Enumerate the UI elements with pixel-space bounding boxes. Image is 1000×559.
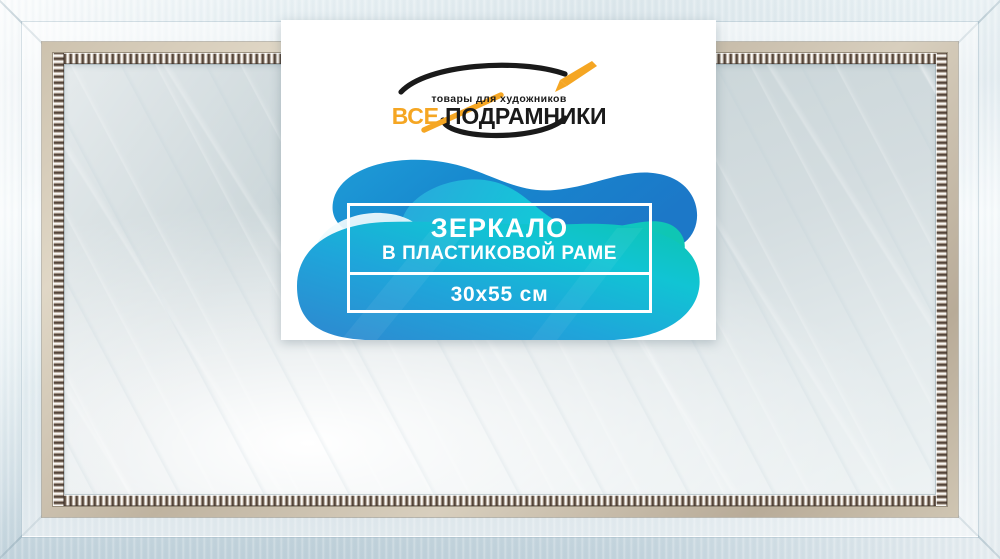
- label-text-box-lower: 30x55 см: [350, 275, 649, 313]
- bead-row-left: [53, 53, 64, 506]
- label-title: ЗЕРКАЛО: [431, 215, 569, 242]
- label-text-box-upper: ЗЕРКАЛО В ПЛАСТИКОВОЙ РАМЕ: [350, 206, 649, 275]
- logo-word-podramniki: ПОДРАМНИКИ: [444, 103, 605, 129]
- paintbrush-icon: [555, 61, 597, 92]
- logo-swoosh-top-arc: [401, 65, 565, 92]
- logo-word-vse: ВСЕ: [391, 103, 438, 129]
- label-subtitle: В ПЛАСТИКОВОЙ РАМЕ: [382, 243, 617, 264]
- product-label-card: товары для художников ВСЕ ПОДРАМНИКИ: [281, 20, 716, 340]
- bead-row-right: [936, 53, 947, 506]
- bead-row-bottom: [53, 495, 947, 506]
- label-size: 30x55 см: [451, 284, 549, 305]
- svg-text:ВСЕ ПОДРАМНИКИ: ВСЕ ПОДРАМНИКИ: [391, 103, 606, 129]
- brand-logo: товары для художников ВСЕ ПОДРАМНИКИ: [281, 58, 716, 140]
- label-text-box: ЗЕРКАЛО В ПЛАСТИКОВОЙ РАМЕ 30x55 см: [347, 203, 652, 313]
- product-image: товары для художников ВСЕ ПОДРАМНИКИ: [0, 0, 1000, 559]
